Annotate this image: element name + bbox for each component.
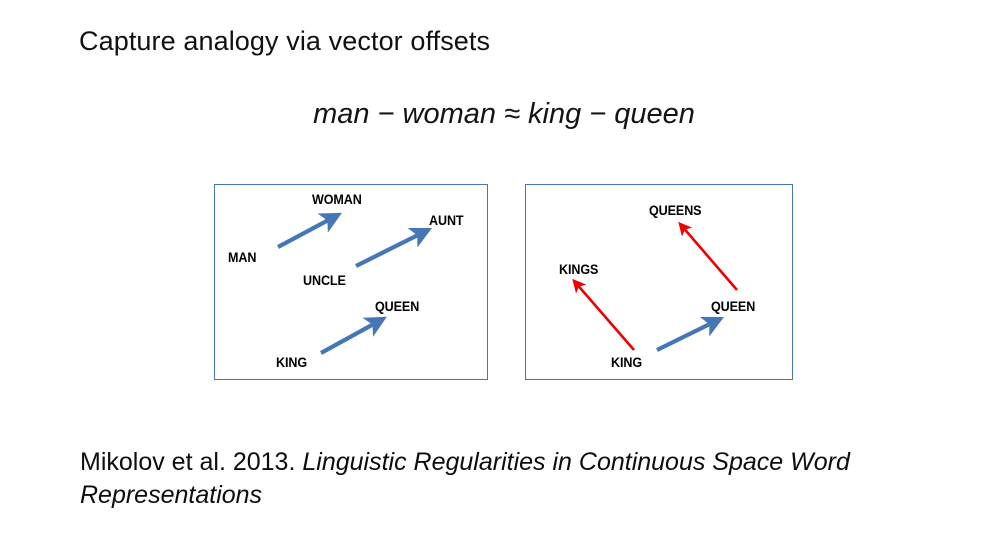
arrow-uncle-to-aunt [356, 231, 426, 266]
slide-canvas: Capture analogy via vector offsets man −… [0, 0, 1008, 534]
word-label-queen-left: QUEEN [375, 299, 419, 314]
word-label-king-right: KING [611, 355, 642, 370]
gender-analogy-panel [214, 184, 488, 380]
citation-authors-year: Mikolov et al. 2013. [80, 448, 295, 476]
word-label-king-left: KING [276, 355, 307, 370]
arrow-king-to-queen-left [321, 320, 381, 353]
word-label-queen-right: QUEEN [711, 299, 755, 314]
plural-analogy-panel [525, 184, 793, 380]
arrow-king-to-kings [575, 282, 634, 350]
page-title: Capture analogy via vector offsets [79, 26, 490, 57]
arrow-man-to-woman [278, 216, 336, 247]
citation: Mikolov et al. 2013. Linguistic Regulari… [80, 446, 910, 512]
word-label-man: MAN [228, 250, 256, 265]
word-label-kings: KINGS [559, 262, 598, 277]
arrow-queen-to-queens [681, 225, 737, 290]
arrow-king-to-queen-right [657, 320, 718, 350]
word-label-uncle: UNCLE [303, 273, 346, 288]
word-label-queens: QUEENS [649, 203, 701, 218]
word-label-aunt: AUNT [429, 213, 464, 228]
word-label-woman: WOMAN [312, 192, 362, 207]
analogy-equation: man − woman ≈ king − queen [0, 98, 1008, 131]
